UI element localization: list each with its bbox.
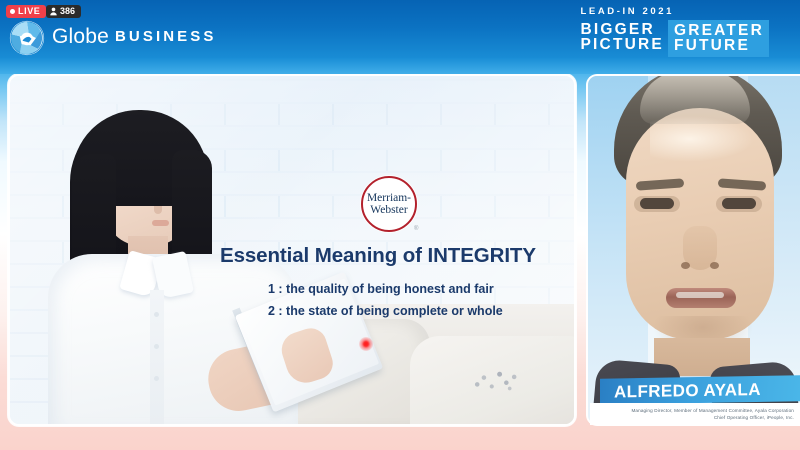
definition-1: 1 : the quality of being honest and fair bbox=[268, 282, 568, 296]
speaker-name-banner: ALFREDO AYALA bbox=[600, 375, 800, 404]
event-headline-left: BIGGER PICTURE bbox=[581, 20, 664, 52]
dried-flowers bbox=[466, 364, 522, 398]
headline-left-line2: PICTURE bbox=[581, 37, 664, 52]
speaker-mouth bbox=[666, 288, 736, 308]
broadcast-header: LIVE 386 Globe BUSINESS LEAD-IN 2021 bbox=[0, 0, 800, 60]
headline-right-line1: GREATER bbox=[674, 23, 764, 38]
presentation-slide[interactable]: Merriam- Webster ® Essential Meaning of … bbox=[8, 74, 576, 426]
definition-2: 2 : the state of being complete or whole bbox=[268, 304, 568, 318]
speaker-title-box: Managing Director, Member of Management … bbox=[590, 403, 800, 425]
brand-name: Globe bbox=[52, 26, 109, 47]
shirt-button bbox=[154, 312, 159, 317]
laser-pointer-dot bbox=[359, 337, 373, 351]
headline-right-line2: FUTURE bbox=[674, 38, 764, 53]
shirt-placket bbox=[150, 290, 164, 424]
person-icon bbox=[50, 7, 57, 16]
brand-sub: BUSINESS bbox=[115, 29, 217, 44]
globe-logo-icon bbox=[9, 20, 45, 56]
event-lockup: LEAD-IN 2021 BIGGER PICTURE GREATER FUTU… bbox=[581, 6, 783, 57]
speaker-name: ALFREDO AYALA bbox=[600, 380, 761, 400]
merriam-webster-logo: Merriam- Webster bbox=[361, 176, 417, 232]
speaker-webcam-feed bbox=[588, 76, 800, 424]
speaker-nostril-left bbox=[681, 262, 690, 269]
live-dot-icon bbox=[10, 9, 15, 14]
event-lead-in: LEAD-IN 2021 bbox=[581, 6, 783, 17]
speaker-title-line2: Chief Operating Officer, iPeople, Inc. bbox=[714, 414, 794, 421]
speaker-teeth bbox=[676, 292, 724, 298]
speaker-video-panel[interactable] bbox=[586, 74, 800, 426]
slide-content: Merriam- Webster ® Essential Meaning of … bbox=[10, 76, 574, 424]
live-label: LIVE bbox=[18, 7, 40, 16]
viewer-count-badge: 386 bbox=[46, 5, 81, 18]
shirt-button bbox=[154, 376, 159, 381]
headline-left-line1: BIGGER bbox=[581, 22, 664, 37]
event-headline-right: GREATER FUTURE bbox=[668, 20, 769, 57]
live-badge: LIVE bbox=[6, 5, 46, 18]
speaker-title-line1: Managing Director, Member of Management … bbox=[631, 407, 794, 414]
speaker-nostril-right bbox=[710, 262, 719, 269]
lips bbox=[152, 220, 169, 226]
viewer-count-value: 386 bbox=[60, 7, 75, 16]
speaker-eye-right bbox=[722, 198, 756, 209]
speaker-eye-left bbox=[640, 198, 674, 209]
registered-mark: ® bbox=[414, 226, 418, 232]
mw-name-line1: Merriam- bbox=[367, 192, 411, 204]
speaker-forehead-highlight bbox=[650, 116, 754, 162]
mw-name-line2: Webster bbox=[370, 204, 407, 216]
slide-title: Essential Meaning of INTEGRITY bbox=[220, 244, 570, 268]
broadcast-stage: LIVE 386 Globe BUSINESS LEAD-IN 2021 bbox=[0, 0, 800, 450]
shirt-button bbox=[154, 344, 159, 349]
